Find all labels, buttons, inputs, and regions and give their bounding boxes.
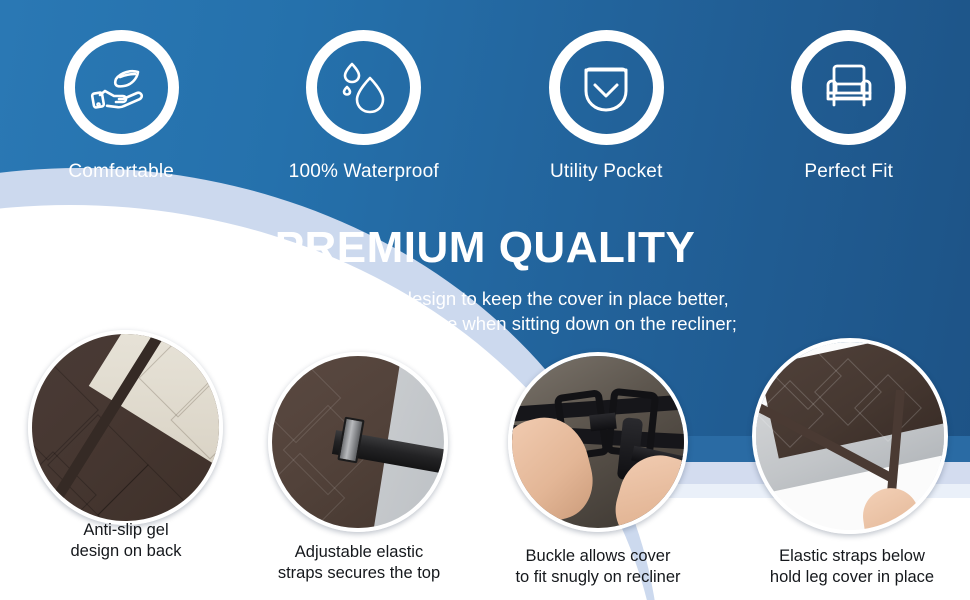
adjustable-elastic-strap-photo	[268, 352, 448, 532]
feature-icon-ring	[64, 30, 179, 145]
subtitle-line-1: Quadruple anti-slip design to keep the c…	[0, 286, 970, 311]
caption-line-2: design on back	[10, 541, 242, 562]
feature-item-utility-pocket: Utility Pocket	[485, 0, 728, 200]
caption-line-1: Elastic straps below	[742, 546, 962, 567]
feature-item-perfect-fit: Perfect Fit	[728, 0, 970, 200]
leg-cover-strap-caption: Elastic straps below hold leg cover in p…	[742, 546, 962, 588]
feature-row: Comfortable 100% Waterproof	[0, 0, 970, 200]
anti-slip-gel-photo	[28, 330, 223, 525]
caption-line-1: Anti-slip gel	[10, 520, 242, 541]
anti-slip-gel-caption: Anti-slip gel design on back	[10, 520, 242, 562]
caption-line-1: Adjustable elastic	[248, 542, 470, 563]
feature-item-waterproof: 100% Waterproof	[243, 0, 486, 200]
caption-line-1: Buckle allows cover	[486, 546, 710, 567]
pocket-chevron-down-icon	[577, 59, 635, 117]
feature-label: Perfect Fit	[804, 161, 893, 183]
page-subtitle: Quadruple anti-slip design to keep the c…	[0, 286, 970, 336]
hand-feather-icon	[90, 57, 152, 119]
armchair-icon	[820, 59, 878, 117]
adjustable-elastic-strap-caption: Adjustable elastic straps secures the to…	[248, 542, 470, 584]
feature-icon-ring	[549, 30, 664, 145]
water-droplets-icon	[335, 59, 393, 117]
page-title: PREMIUM QUALITY	[0, 226, 970, 270]
caption-line-2: to fit snugly on recliner	[486, 567, 710, 588]
infographic-canvas: Comfortable 100% Waterproof	[0, 0, 970, 600]
feature-icon-ring	[791, 30, 906, 145]
feature-label: Utility Pocket	[550, 161, 663, 183]
feature-icon-ring	[306, 30, 421, 145]
feature-item-comfortable: Comfortable	[0, 0, 243, 200]
leg-cover-strap-photo	[752, 338, 948, 534]
buckle-photo	[508, 352, 688, 532]
caption-line-2: hold leg cover in place	[742, 567, 962, 588]
caption-line-2: straps secures the top	[248, 563, 470, 584]
feature-label: 100% Waterproof	[289, 161, 439, 183]
buckle-caption: Buckle allows cover to fit snugly on rec…	[486, 546, 710, 588]
feature-label: Comfortable	[68, 161, 174, 183]
